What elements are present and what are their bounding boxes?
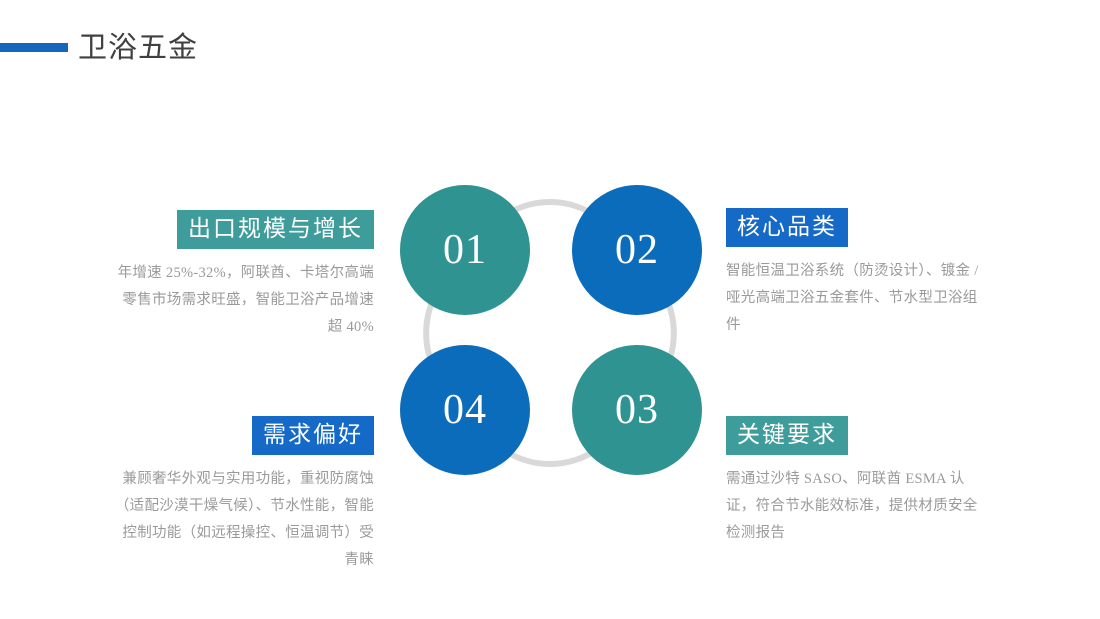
diagram-node-01[interactable]: 01 [400, 185, 530, 315]
diagram-node-03-number: 03 [615, 386, 659, 434]
info-block-04-body: 兼顾奢华外观与实用功能，重视防腐蚀（适配沙漠干燥气候）、节水性能，智能控制功能（… [112, 466, 374, 574]
info-block-03-body: 需通过沙特 SASO、阿联酋 ESMA 认证，符合节水能效标准，提供材质安全检测… [726, 466, 988, 547]
diagram-node-04-number: 04 [443, 386, 487, 434]
info-block-02-label: 核心品类 [726, 208, 848, 247]
info-block-01-body: 年增速 25%-32%，阿联酋、卡塔尔高端零售市场需求旺盛，智能卫浴产品增速超 … [112, 260, 374, 341]
diagram-node-03[interactable]: 03 [572, 345, 702, 475]
info-block-03: 关键要求 需通过沙特 SASO、阿联酋 ESMA 认证，符合节水能效标准，提供材… [726, 416, 988, 547]
page-header: 卫浴五金 [0, 0, 1100, 100]
info-block-04: 需求偏好 兼顾奢华外观与实用功能，重视防腐蚀（适配沙漠干燥气候）、节水性能，智能… [112, 416, 374, 574]
diagram-node-02-number: 02 [615, 226, 659, 274]
info-block-02-body: 智能恒温卫浴系统（防烫设计）、镀金 / 哑光高端卫浴五金套件、节水型卫浴组件 [726, 258, 988, 339]
diagram-node-01-number: 01 [443, 226, 487, 274]
info-block-01-label: 出口规模与增长 [177, 210, 374, 249]
diagram-node-02[interactable]: 02 [572, 185, 702, 315]
header-accent-bar [0, 43, 68, 52]
info-block-02: 核心品类 智能恒温卫浴系统（防烫设计）、镀金 / 哑光高端卫浴五金套件、节水型卫… [726, 208, 988, 339]
circular-diagram: 01 02 03 04 [375, 140, 725, 510]
info-block-01: 出口规模与增长 年增速 25%-32%，阿联酋、卡塔尔高端零售市场需求旺盛，智能… [112, 210, 374, 341]
diagram-node-04[interactable]: 04 [400, 345, 530, 475]
info-block-03-label: 关键要求 [726, 416, 848, 455]
info-block-04-label: 需求偏好 [252, 416, 374, 455]
page-title: 卫浴五金 [78, 28, 198, 68]
